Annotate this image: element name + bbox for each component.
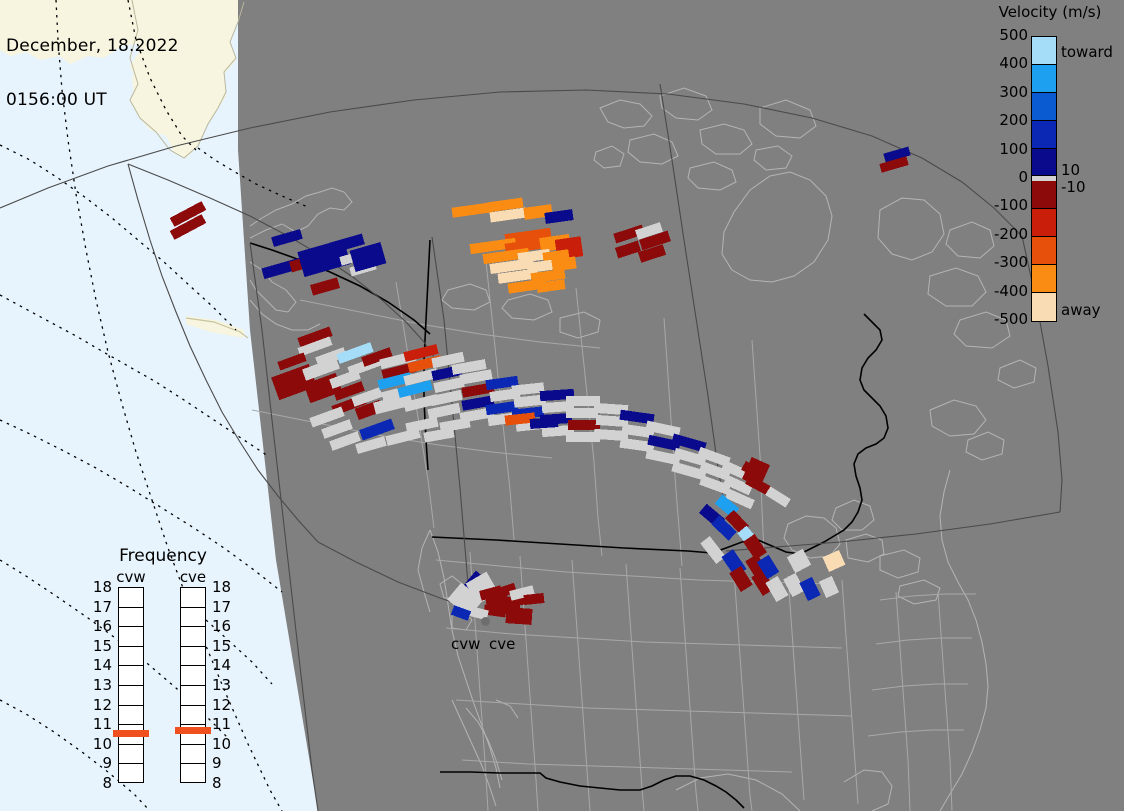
frequency-segment [119, 764, 143, 784]
velocity-colorbar-strip [1031, 36, 1057, 322]
frequency-segment [181, 588, 205, 608]
velocity-toward-label: toward [1061, 45, 1113, 60]
frequency-tick-left: 13 [90, 678, 112, 693]
velocity-cell [524, 593, 545, 605]
frequency-bar-cvw [118, 587, 144, 783]
frequency-tick-right: 11 [212, 717, 234, 732]
frequency-segment [181, 745, 205, 765]
frequency-segment [119, 686, 143, 706]
frequency-tick-right: 8 [212, 776, 234, 791]
frequency-tick-right: 10 [212, 737, 234, 752]
velocity-band [1032, 181, 1056, 209]
frequency-tick-left: 14 [90, 658, 112, 673]
frequency-tick-left: 15 [90, 639, 112, 654]
frequency-segment [119, 666, 143, 686]
frequency-marker-cvw [113, 730, 149, 737]
frequency-segment [181, 647, 205, 667]
velocity-tick-label: 400 [974, 56, 1028, 71]
velocity-tick-label: 200 [974, 113, 1028, 128]
frequency-tick-left: 18 [90, 580, 112, 595]
timestamp-date: December, 18.2022 [6, 37, 179, 55]
velocity-tick-label: -500 [974, 312, 1028, 327]
frequency-segment [119, 588, 143, 608]
velocity-band [1032, 149, 1056, 177]
frequency-segment [119, 706, 143, 726]
velocity-band [1032, 209, 1056, 237]
velocity-positive-threshold-label: 10 [1061, 163, 1080, 178]
frequency-bar-cve [180, 587, 206, 783]
frequency-tick-right: 9 [212, 756, 234, 771]
frequency-segment [119, 608, 143, 628]
frequency-tick-right: 13 [212, 678, 234, 693]
frequency-tick-right: 12 [212, 698, 234, 713]
timestamp-time: 0156:00 UT [6, 91, 179, 109]
frequency-tick-left: 9 [90, 756, 112, 771]
velocity-tick-label: -400 [974, 284, 1028, 299]
frequency-tick-left: 12 [90, 698, 112, 713]
frequency-marker-cve [175, 727, 211, 734]
velocity-tick-label: -100 [974, 198, 1028, 213]
frequency-segment [181, 627, 205, 647]
radar-site-marker-dot [481, 617, 490, 626]
frequency-segment [119, 627, 143, 647]
velocity-tick-label: 300 [974, 85, 1028, 100]
velocity-band [1032, 237, 1056, 265]
frequency-segment [119, 745, 143, 765]
velocity-tick-label: 100 [974, 142, 1028, 157]
velocity-band [1032, 293, 1056, 321]
velocity-band [1032, 265, 1056, 293]
velocity-cell [566, 408, 598, 418]
radar-site-label-cve: cve [489, 635, 515, 653]
velocity-colorbar-panel: Velocity (m/s) 5004003002001000-100-200-… [976, 0, 1124, 340]
superdarn-velocity-map: December, 18.2022 0156:00 UT Velocity (m… [0, 0, 1124, 811]
velocity-tick-label: -300 [974, 255, 1028, 270]
frequency-tick-left: 17 [90, 600, 112, 615]
frequency-tick-right: 16 [212, 619, 234, 634]
velocity-band [1032, 121, 1056, 149]
frequency-segment [181, 666, 205, 686]
velocity-negative-threshold-label: -10 [1061, 180, 1086, 195]
frequency-segment [181, 706, 205, 726]
radar-site-label-cvw: cvw [451, 635, 480, 653]
velocity-tick-label: 0 [974, 170, 1028, 185]
frequency-segment [181, 686, 205, 706]
frequency-tick-right: 15 [212, 639, 234, 654]
velocity-colorbar-title: Velocity (m/s) [976, 3, 1124, 21]
frequency-legend-title: Frequency [96, 546, 230, 566]
frequency-segment [119, 647, 143, 667]
frequency-column-label-cve: cve [168, 568, 218, 586]
frequency-tick-right: 17 [212, 600, 234, 615]
frequency-segment [181, 764, 205, 784]
frequency-tick-left: 8 [90, 776, 112, 791]
velocity-cell [505, 607, 532, 625]
velocity-cell [568, 420, 600, 430]
timestamp-block: December, 18.2022 0156:00 UT [6, 1, 179, 145]
frequency-tick-left: 16 [90, 619, 112, 634]
velocity-band [1032, 65, 1056, 93]
frequency-column-label-cvw: cvw [106, 568, 156, 586]
frequency-tick-right: 14 [212, 658, 234, 673]
velocity-tick-label: -200 [974, 227, 1028, 242]
velocity-tick-label: 500 [974, 28, 1028, 43]
frequency-tick-left: 11 [90, 717, 112, 732]
velocity-cell [530, 417, 559, 429]
frequency-tick-left: 10 [90, 737, 112, 752]
frequency-tick-right: 18 [212, 580, 234, 595]
frequency-segment [181, 608, 205, 628]
velocity-band [1032, 93, 1056, 121]
frequency-legend-panel: Frequency cvwcve181817171616151514141313… [96, 546, 230, 786]
velocity-band [1032, 37, 1056, 65]
velocity-away-label: away [1061, 303, 1101, 318]
